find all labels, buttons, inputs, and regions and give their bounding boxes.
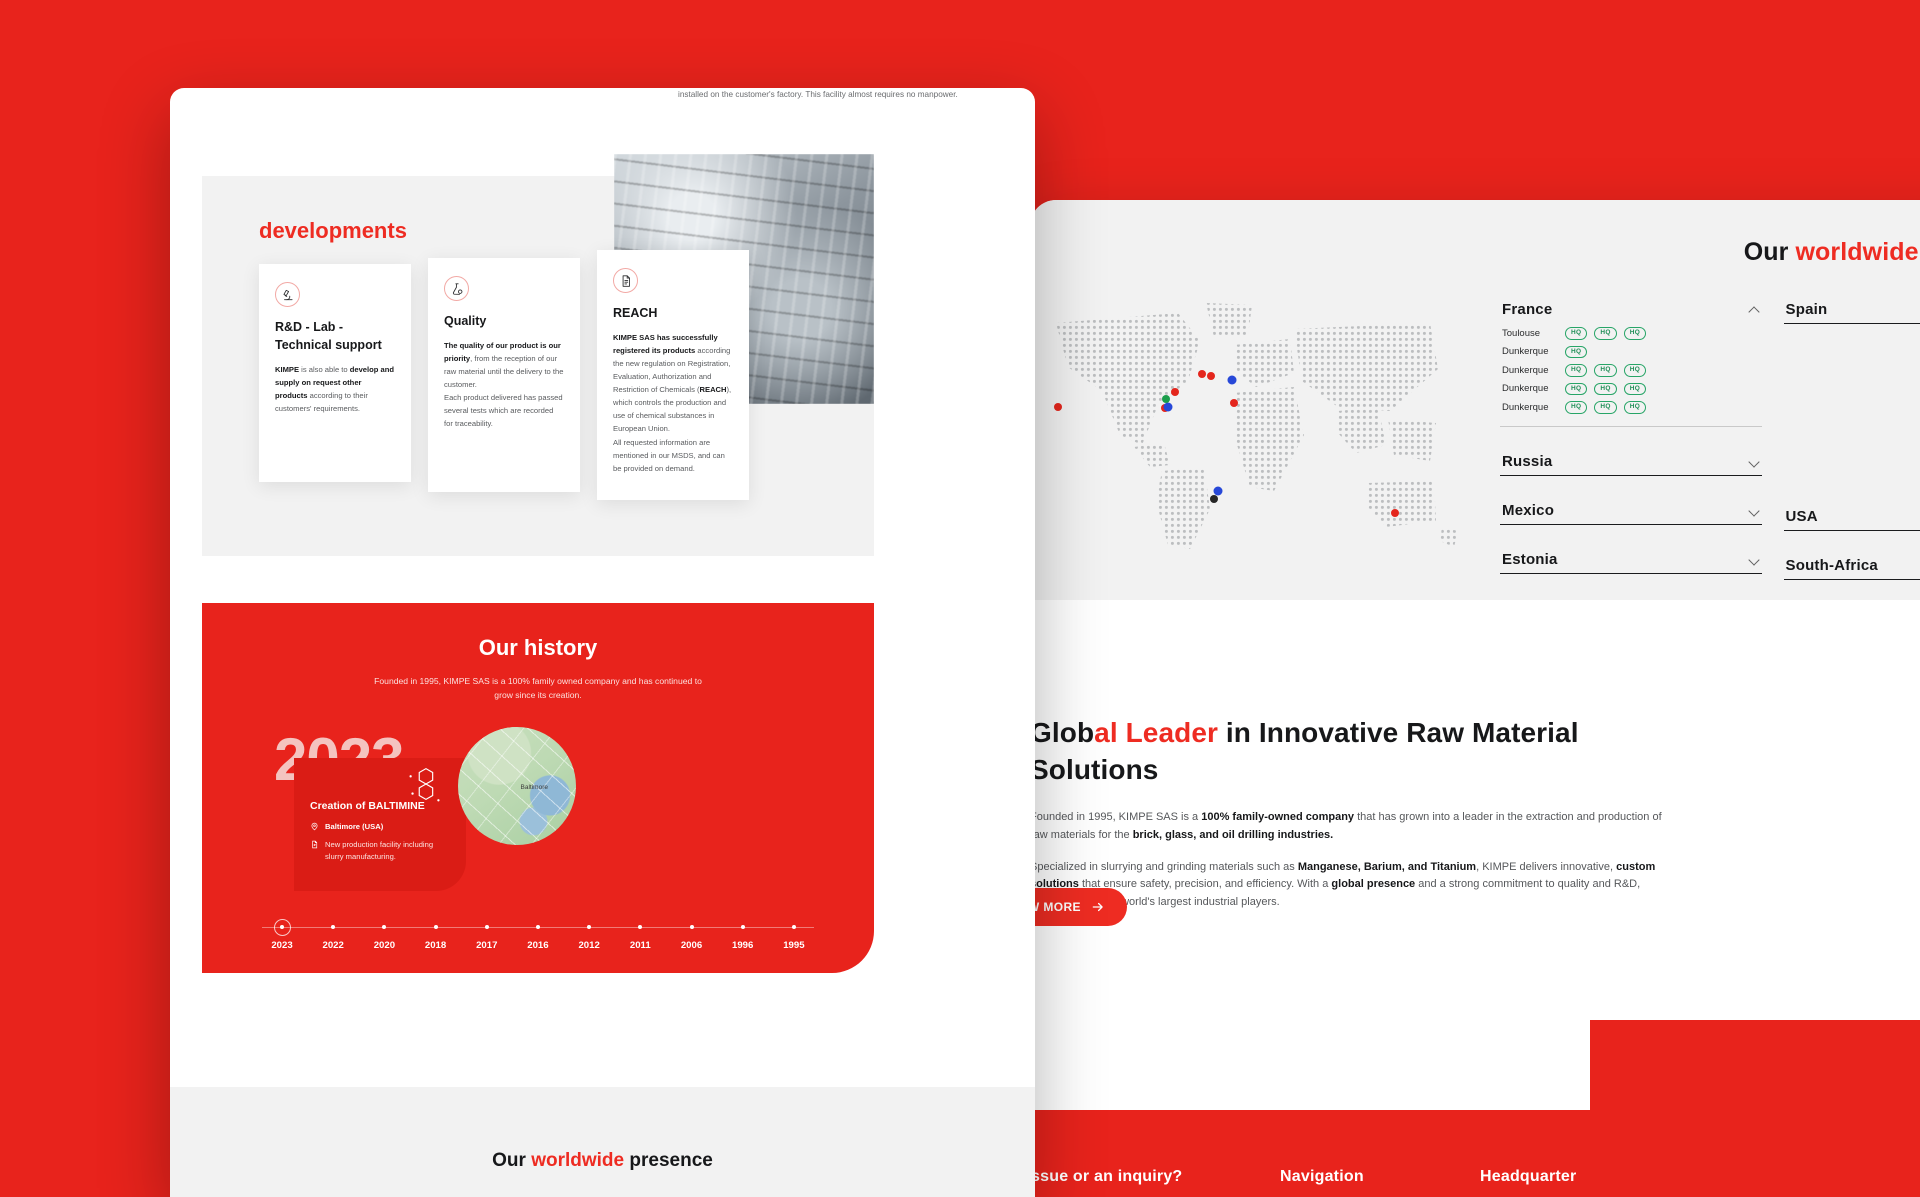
timeline-year: 2016	[527, 940, 548, 951]
footer-headquarter-column: Headquarter 35 Rue Lambic 31200, Toulous…	[1480, 1168, 1710, 1197]
timeline-items: 2023 2022 2020 2018 2017 2016 2012 2011 …	[262, 921, 814, 951]
timeline-item-2012[interactable]: 2012	[569, 921, 609, 951]
city-name: Toulouse	[1502, 328, 1558, 339]
worldwide-presence-preview-title: Our worldwide presence	[170, 1150, 1035, 1172]
worldwide-presence-preview-section: Our worldwide presence	[170, 1087, 1035, 1197]
document-icon	[613, 268, 638, 293]
hq-badge: HQ	[1594, 364, 1616, 377]
background-browser-window: Our worldwide presence	[1030, 200, 1920, 1197]
timeline-dot	[792, 925, 796, 929]
hero-text-block: Global Leader in Innovative Raw Material…	[1030, 715, 1670, 912]
hq-badge: HQ	[1565, 383, 1587, 396]
location-text: Baltimore (USA)	[325, 821, 383, 832]
footer-logo: KIMPE	[1030, 1042, 1158, 1116]
worldwide-presence-title: Our worldwide presence	[1030, 238, 1920, 267]
hq-badge: HQ	[1624, 383, 1646, 396]
chevron-down-icon[interactable]	[1749, 505, 1760, 516]
timeline-item-2017[interactable]: 2017	[467, 921, 507, 951]
country-header[interactable]: France	[1502, 301, 1760, 318]
card-body: The quality of our product is our priori…	[444, 339, 564, 430]
site-footer: KIMPE An issue or an inquiry? Navigation…	[1030, 1020, 1920, 1197]
city-row: Dunkerque HQ	[1502, 346, 1760, 359]
timeline-year: 2006	[681, 940, 702, 951]
worldwide-presence-section: Our worldwide presence	[1030, 200, 1920, 600]
city-name: Dunkerque	[1502, 402, 1558, 413]
card-body: KIMPE SAS has successfully registered it…	[613, 331, 733, 475]
city-row: Dunkerque HQ HQ HQ	[1502, 364, 1760, 377]
country-name: Estonia	[1502, 551, 1558, 568]
timeline-year: 2022	[323, 940, 344, 951]
country-name: Mexico	[1502, 502, 1554, 519]
title-highlight: worldwide	[531, 1150, 624, 1171]
country-accordion-estonia[interactable]: Estonia	[1500, 545, 1762, 574]
timeline-item-1996[interactable]: 1996	[723, 921, 763, 951]
country-header[interactable]: Spain	[1786, 301, 1920, 318]
timeline-year: 2020	[374, 940, 395, 951]
history-timeline: 2023 2022 2020 2018 2017 2016 2012 2011 …	[262, 921, 814, 951]
hq-badge: HQ	[1624, 401, 1646, 414]
timeline-year: 1996	[732, 940, 753, 951]
detail-text: New production facility including slurry…	[325, 839, 450, 862]
timeline-item-2022[interactable]: 2022	[313, 921, 353, 951]
country-header[interactable]: Mexico	[1502, 502, 1760, 519]
city-row: Dunkerque HQ HQ HQ	[1502, 401, 1760, 414]
card-title: REACH	[613, 304, 733, 322]
timeline-dot	[536, 925, 540, 929]
card-title: R&D - Lab - Technical support	[275, 318, 395, 354]
timeline-item-2018[interactable]: 2018	[416, 921, 456, 951]
dotted-world-map	[1038, 295, 1468, 555]
timeline-dot	[638, 925, 642, 929]
country-accordion-russia[interactable]: Russia	[1500, 447, 1762, 476]
developments-title: developments	[259, 218, 407, 244]
baltimore-map-thumbnail: Baltimore	[458, 727, 576, 845]
hq-badge: HQ	[1565, 401, 1587, 414]
hq-badge: HQ	[1565, 327, 1587, 340]
footer-navigation-column: Navigation About us News Markets	[1280, 1168, 1480, 1197]
footer-nav-heading: Navigation	[1280, 1168, 1480, 1186]
timeline-item-2023[interactable]: 2023	[262, 921, 302, 951]
chevron-up-icon[interactable]	[1749, 304, 1760, 315]
hq-badge: HQ	[1594, 401, 1616, 414]
country-accordion-france[interactable]: France Toulouse HQ HQ HQ Dunkerque HQ	[1500, 295, 1762, 427]
city-name: Dunkerque	[1502, 383, 1558, 394]
hq-badge: HQ	[1594, 383, 1616, 396]
timeline-dot	[331, 925, 335, 929]
timeline-dot	[587, 925, 591, 929]
molecule-icon	[402, 761, 448, 807]
document-icon	[310, 840, 319, 849]
title-prefix: Our	[492, 1150, 531, 1171]
hq-badge: HQ	[1624, 364, 1646, 377]
hq-badge: HQ	[1565, 346, 1587, 359]
know-more-label: KNOW MORE	[1030, 900, 1081, 914]
top-truncated-note: installed on the customer's factory. Thi…	[678, 88, 978, 102]
timeline-dot	[434, 925, 438, 929]
timeline-item-2006[interactable]: 2006	[672, 921, 712, 951]
footer-contact-heading: An issue or an inquiry?	[1030, 1168, 1280, 1186]
hq-badge: HQ	[1565, 364, 1587, 377]
country-name: Russia	[1502, 453, 1552, 470]
country-accordion-mexico[interactable]: Mexico	[1500, 496, 1762, 525]
arrow-right-icon	[1091, 900, 1105, 914]
countries-accordion-grid: France Toulouse HQ HQ HQ Dunkerque HQ	[1500, 295, 1920, 649]
timeline-year: 2012	[578, 940, 599, 951]
title-highlight: developments	[259, 218, 407, 243]
hero-section: Global Leader in Innovative Raw Material…	[1030, 600, 1920, 1020]
title-prefix: Our	[1744, 238, 1796, 266]
developments-section: developments R&D - Lab - Technical suppo…	[202, 176, 874, 556]
hero-paragraph-1: Founded in 1995, KIMPE SAS is a 100% fam…	[1030, 809, 1670, 845]
city-row: Dunkerque HQ HQ HQ	[1502, 383, 1760, 396]
city-list: Toulouse HQ HQ HQ Dunkerque HQ Dunkerque…	[1502, 327, 1760, 421]
history-title: Our history	[202, 603, 874, 661]
hero-heading-pre: Glob	[1030, 717, 1094, 748]
city-name: Dunkerque	[1502, 346, 1558, 357]
microscope-icon	[275, 282, 300, 307]
know-more-button[interactable]: KNOW MORE	[1030, 888, 1127, 926]
foreground-browser-window: installed on the customer's factory. Thi…	[170, 88, 1035, 1197]
map-city-label: Baltimore	[521, 784, 548, 791]
country-header[interactable]: Estonia	[1502, 551, 1760, 568]
timeline-year: 2011	[630, 940, 651, 951]
timeline-item-2016[interactable]: 2016	[518, 921, 558, 951]
development-card-reach[interactable]: REACH KIMPE SAS has successfully registe…	[597, 250, 749, 500]
timeline-year: 2017	[476, 940, 497, 951]
timeline-dot	[690, 925, 694, 929]
hq-badge: HQ	[1624, 327, 1646, 340]
timeline-year: 2023	[271, 940, 292, 951]
country-header[interactable]: USA	[1786, 508, 1920, 525]
countries-column-left: France Toulouse HQ HQ HQ Dunkerque HQ	[1500, 295, 1762, 649]
country-header[interactable]: South-Africa	[1786, 557, 1920, 574]
chevron-down-icon[interactable]	[1749, 554, 1760, 565]
country-accordion-spain[interactable]: Spain	[1784, 295, 1920, 324]
development-card-rd[interactable]: R&D - Lab - Technical support KIMPE is a…	[259, 264, 411, 482]
hq-badge: HQ	[1594, 327, 1616, 340]
country-header[interactable]: Russia	[1502, 453, 1760, 470]
title-suffix: presence	[624, 1150, 713, 1171]
country-accordion-usa[interactable]: USA	[1784, 502, 1920, 531]
timeline-dot	[741, 925, 745, 929]
hero-heading-highlight: al Leader	[1094, 717, 1218, 748]
timeline-dot	[382, 925, 386, 929]
hero-heading: Global Leader in Innovative Raw Material…	[1030, 715, 1670, 789]
timeline-year: 1995	[783, 940, 804, 951]
history-entry-detail: New production facility including slurry…	[310, 839, 450, 862]
footer-contact-column: An issue or an inquiry?	[1030, 1168, 1280, 1197]
card-body: KIMPE is also able to develop and supply…	[275, 363, 395, 415]
flask-gear-icon	[444, 276, 469, 301]
country-name: South-Africa	[1786, 557, 1878, 574]
country-name: Spain	[1786, 301, 1828, 318]
country-name: France	[1502, 301, 1552, 318]
country-name: USA	[1786, 508, 1818, 525]
footer-columns: An issue or an inquiry? Navigation About…	[1030, 1168, 1740, 1197]
timeline-year: 2018	[425, 940, 446, 951]
history-entry-location: Baltimore (USA)	[310, 821, 450, 832]
city-name: Dunkerque	[1502, 365, 1558, 376]
history-subtitle: Founded in 1995, KIMPE SAS is a 100% fam…	[373, 675, 703, 703]
countries-column-right: Spain USA South-Africa	[1784, 295, 1920, 649]
developments-cards: R&D - Lab - Technical support KIMPE is a…	[259, 264, 749, 500]
map-pin-icon	[310, 822, 319, 831]
city-row: Toulouse HQ HQ HQ	[1502, 327, 1760, 340]
development-card-quality[interactable]: Quality The quality of our product is ou…	[428, 258, 580, 492]
chevron-down-icon[interactable]	[1749, 456, 1760, 467]
timeline-item-1995[interactable]: 1995	[774, 921, 814, 951]
card-title: Quality	[444, 312, 564, 330]
timeline-item-2011[interactable]: 2011	[620, 921, 660, 951]
timeline-item-2020[interactable]: 2020	[364, 921, 404, 951]
country-accordion-south-africa[interactable]: South-Africa	[1784, 551, 1920, 580]
history-section: Our history Founded in 1995, KIMPE SAS i…	[202, 603, 874, 973]
footer-hq-heading: Headquarter	[1480, 1168, 1710, 1186]
timeline-active-ring	[274, 919, 291, 936]
title-highlight: worldwide	[1796, 238, 1919, 266]
timeline-dot	[485, 925, 489, 929]
